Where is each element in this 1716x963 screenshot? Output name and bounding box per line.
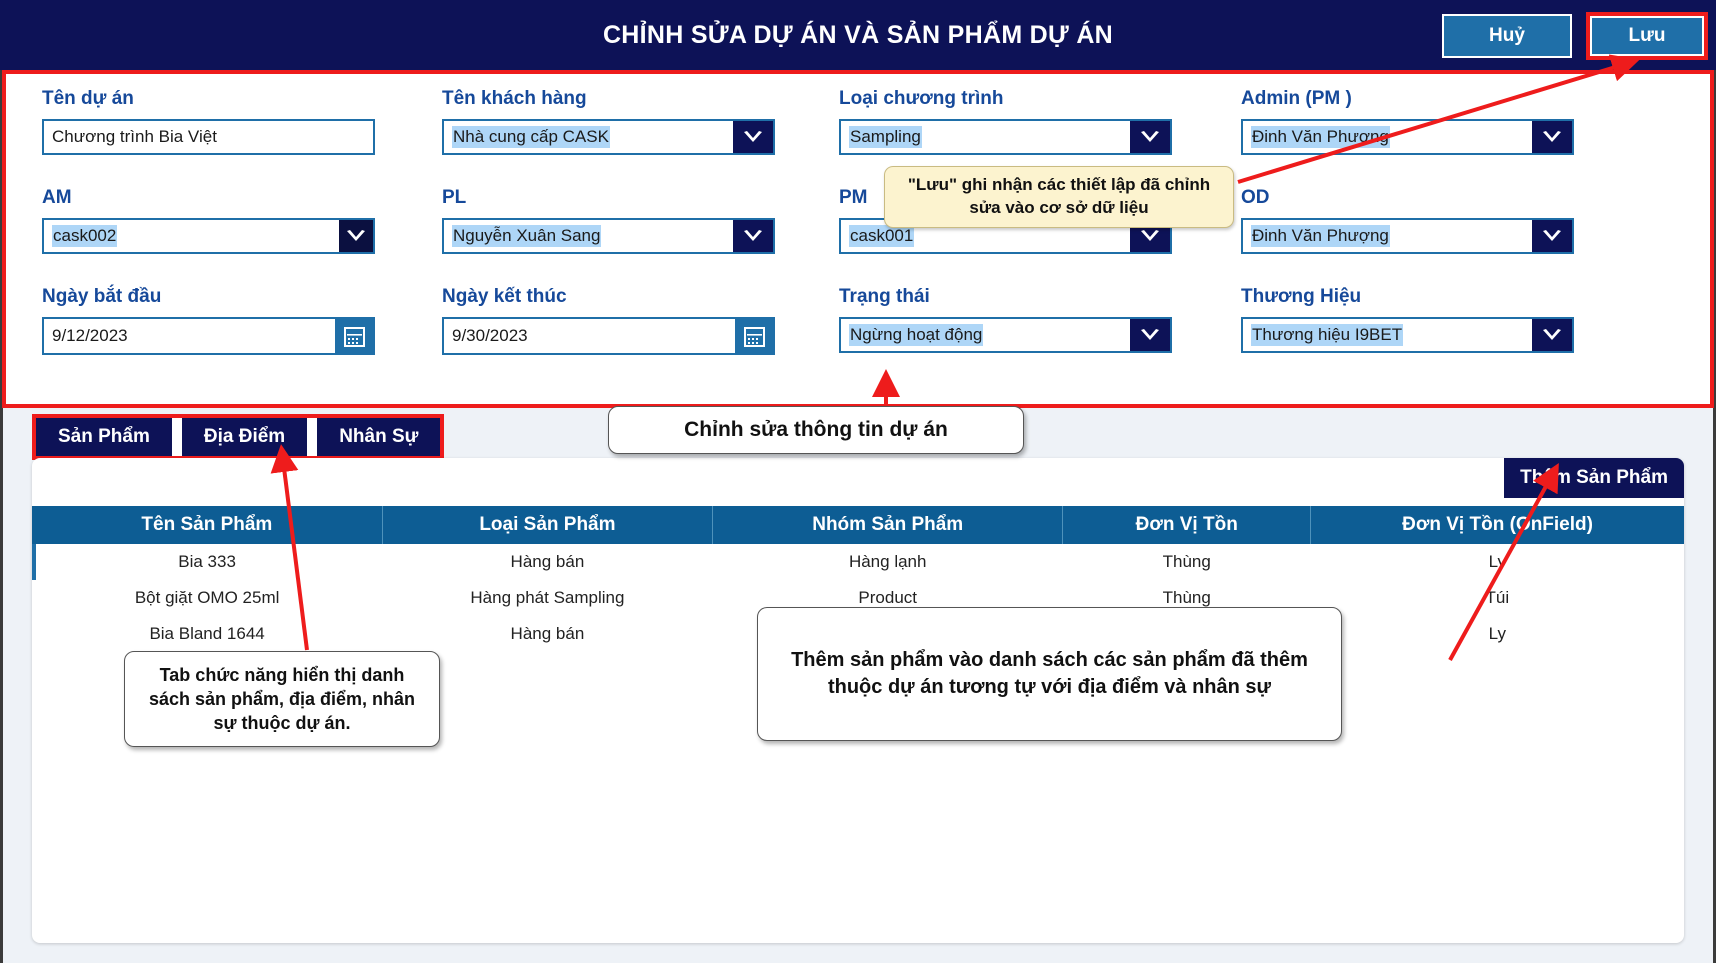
field-control-ngay-ket-thuc[interactable]: 9/30/2023: [442, 317, 775, 355]
app-window: CHỈNH SỬA DỰ ÁN VÀ SẢN PHẨM DỰ ÁN Huỷ Lư…: [0, 0, 1716, 963]
field-value-thuong-hieu[interactable]: Thương hiệu I9BET: [1243, 319, 1532, 351]
field-value-text: Nguyễn Xuân Sang: [452, 225, 601, 247]
chevron-down-icon: [1140, 229, 1160, 243]
dropdown-toggle-ten-khach-hang[interactable]: [733, 121, 773, 153]
form-field-ten-khach-hang: Tên khách hàngNhà cung cấp CASK: [442, 88, 775, 155]
tab-bar: Sản Phẩm Địa Điểm Nhân Sự: [32, 414, 444, 460]
chevron-down-icon: [1542, 328, 1562, 342]
form-field-trang-thai: Trạng tháiNgừng hoạt động: [839, 286, 1172, 353]
field-label-admin-pm: Admin (PM ): [1241, 88, 1574, 110]
page-title: CHỈNH SỬA DỰ ÁN VÀ SẢN PHẨM DỰ ÁN: [603, 21, 1113, 50]
table-row[interactable]: Bia 333Hàng bánHàng lạnhThùngLy: [32, 544, 1684, 580]
field-control-am[interactable]: cask002: [42, 218, 375, 254]
title-bar: CHỈNH SỬA DỰ ÁN VÀ SẢN PHẨM DỰ ÁN Huỷ Lư…: [0, 0, 1716, 70]
project-form-panel: Tên dự ánChương trình Bia ViệtTên khách …: [2, 70, 1714, 408]
form-field-od: ODĐinh Văn Phượng: [1241, 187, 1574, 254]
tab-san-pham[interactable]: Sản Phẩm: [36, 418, 172, 456]
chevron-down-icon: [1140, 328, 1160, 342]
table-cell: Túi: [1311, 580, 1684, 616]
dropdown-toggle-trang-thai[interactable]: [1130, 319, 1170, 351]
table-cell: Bia 333: [32, 544, 382, 580]
table-column-header[interactable]: Đơn Vị Tồn: [1063, 506, 1311, 544]
form-field-pl: PLNguyễn Xuân Sang: [442, 187, 775, 254]
field-label-loai-chuong-trinh: Loại chương trình: [839, 88, 1172, 110]
project-form-grid: Tên dự ánChương trình Bia ViệtTên khách …: [6, 74, 1710, 404]
field-value-ten-khach-hang[interactable]: Nhà cung cấp CASK: [444, 121, 733, 153]
dropdown-toggle-admin-pm[interactable]: [1532, 121, 1572, 153]
field-value-pl[interactable]: Nguyễn Xuân Sang: [444, 220, 733, 252]
field-control-ten-khach-hang[interactable]: Nhà cung cấp CASK: [442, 119, 775, 155]
field-value-text: Nhà cung cấp CASK: [452, 126, 610, 148]
form-field-loai-chuong-trinh: Loại chương trìnhSampling: [839, 88, 1172, 155]
field-label-od: OD: [1241, 187, 1574, 209]
chevron-down-icon: [346, 229, 366, 243]
field-label-trang-thai: Trạng thái: [839, 286, 1172, 308]
table-cell: Ly: [1311, 544, 1684, 580]
field-value-am[interactable]: cask002: [44, 220, 339, 252]
save-button-highlight: Lưu: [1586, 12, 1708, 60]
form-field-admin-pm: Admin (PM )Đinh Văn Phượng: [1241, 88, 1574, 155]
table-cell: Ly: [1311, 616, 1684, 652]
save-button[interactable]: Lưu: [1590, 16, 1704, 56]
field-control-thuong-hieu[interactable]: Thương hiệu I9BET: [1241, 317, 1574, 353]
field-label-pl: PL: [442, 187, 775, 209]
form-field-ten-du-an: Tên dự ánChương trình Bia Việt: [42, 88, 375, 155]
field-value-text: cask002: [52, 225, 117, 247]
tab-dia-diem[interactable]: Địa Điểm: [182, 418, 307, 456]
callout-edit-info: Chỉnh sửa thông tin dự án: [608, 406, 1024, 454]
field-control-trang-thai[interactable]: Ngừng hoạt động: [839, 317, 1172, 353]
title-bar-actions: Huỷ Lưu: [1442, 12, 1708, 60]
chevron-down-icon: [1542, 229, 1562, 243]
table-column-header[interactable]: Tên Sản Phẩm: [32, 506, 382, 544]
field-value-text: Ngừng hoạt động: [849, 324, 983, 346]
field-value-admin-pm[interactable]: Đinh Văn Phượng: [1243, 121, 1532, 153]
field-label-ngay-bat-dau: Ngày bắt đầu: [42, 286, 375, 308]
field-label-thuong-hieu: Thương Hiệu: [1241, 286, 1574, 308]
calendar-icon: [344, 326, 365, 347]
dropdown-toggle-pl[interactable]: [733, 220, 773, 252]
table-cell: Hàng phát Sampling: [382, 580, 712, 616]
field-control-ngay-bat-dau[interactable]: 9/12/2023: [42, 317, 375, 355]
field-value-text: Sampling: [849, 126, 922, 148]
table-cell: Hàng bán: [382, 616, 712, 652]
chevron-down-icon: [743, 130, 763, 144]
field-value-text: Đinh Văn Phượng: [1251, 126, 1390, 148]
product-table-head: Tên Sản PhẩmLoại Sản PhẩmNhóm Sản PhẩmĐơ…: [32, 506, 1684, 544]
callout-tabs-note: Tab chức năng hiển thị danh sách sản phẩ…: [124, 651, 440, 747]
table-column-header[interactable]: Đơn Vị Tồn (OnField): [1311, 506, 1684, 544]
cancel-button[interactable]: Huỷ: [1442, 14, 1572, 58]
field-value-ngay-bat-dau[interactable]: 9/12/2023: [44, 319, 335, 353]
field-value-ngay-ket-thuc[interactable]: 9/30/2023: [444, 319, 735, 353]
field-value-ten-du-an[interactable]: Chương trình Bia Việt: [44, 121, 373, 153]
dropdown-toggle-od[interactable]: [1532, 220, 1572, 252]
field-label-ten-du-an: Tên dự án: [42, 88, 375, 110]
dropdown-toggle-loai-chuong-trinh[interactable]: [1130, 121, 1170, 153]
form-field-thuong-hieu: Thương HiệuThương hiệu I9BET: [1241, 286, 1574, 353]
field-value-text: Đinh Văn Phượng: [1251, 225, 1390, 247]
field-value-trang-thai[interactable]: Ngừng hoạt động: [841, 319, 1130, 351]
calendar-toggle-ngay-ket-thuc[interactable]: [735, 319, 773, 353]
tab-nhan-su[interactable]: Nhân Sự: [317, 418, 440, 456]
chevron-down-icon: [1542, 130, 1562, 144]
table-cell: Hàng bán: [382, 544, 712, 580]
field-value-loai-chuong-trinh[interactable]: Sampling: [841, 121, 1130, 153]
callout-save-note: "Lưu" ghi nhận các thiết lập đã chỉnh sử…: [884, 166, 1234, 228]
table-cell: Hàng lạnh: [713, 544, 1063, 580]
dropdown-toggle-thuong-hieu[interactable]: [1532, 319, 1572, 351]
field-label-ngay-ket-thuc: Ngày kết thúc: [442, 286, 775, 308]
form-field-ngay-ket-thuc: Ngày kết thúc9/30/2023: [442, 286, 775, 355]
table-header-row: Tên Sản PhẩmLoại Sản PhẩmNhóm Sản PhẩmĐơ…: [32, 506, 1684, 544]
chevron-down-icon: [743, 229, 763, 243]
calendar-icon: [744, 326, 765, 347]
field-label-am: AM: [42, 187, 375, 209]
field-control-od[interactable]: Đinh Văn Phượng: [1241, 218, 1574, 254]
callout-add-product-note: Thêm sản phẩm vào danh sách các sản phẩm…: [757, 607, 1342, 741]
table-column-header[interactable]: Loại Sản Phẩm: [382, 506, 712, 544]
form-field-am: AMcask002: [42, 187, 375, 254]
field-value-text: cask001: [849, 225, 914, 247]
field-control-loai-chuong-trinh[interactable]: Sampling: [839, 119, 1172, 155]
table-cell: Bia Bland 1644: [32, 616, 382, 652]
field-control-ten-du-an[interactable]: Chương trình Bia Việt: [42, 119, 375, 155]
field-value-text: Thương hiệu I9BET: [1251, 324, 1403, 346]
field-control-admin-pm[interactable]: Đinh Văn Phượng: [1241, 119, 1574, 155]
table-cell: Bột giặt OMO 25ml: [32, 580, 382, 616]
dropdown-toggle-am[interactable]: [339, 220, 373, 252]
calendar-toggle-ngay-bat-dau[interactable]: [335, 319, 373, 353]
chevron-down-icon: [1140, 130, 1160, 144]
field-value-od[interactable]: Đinh Văn Phượng: [1243, 220, 1532, 252]
add-product-button[interactable]: Thêm Sản Phẩm: [1504, 458, 1684, 498]
form-field-ngay-bat-dau: Ngày bắt đầu9/12/2023: [42, 286, 375, 355]
field-label-ten-khach-hang: Tên khách hàng: [442, 88, 775, 110]
table-column-header[interactable]: Nhóm Sản Phẩm: [713, 506, 1063, 544]
table-cell: Thùng: [1063, 544, 1311, 580]
field-control-pl[interactable]: Nguyễn Xuân Sang: [442, 218, 775, 254]
